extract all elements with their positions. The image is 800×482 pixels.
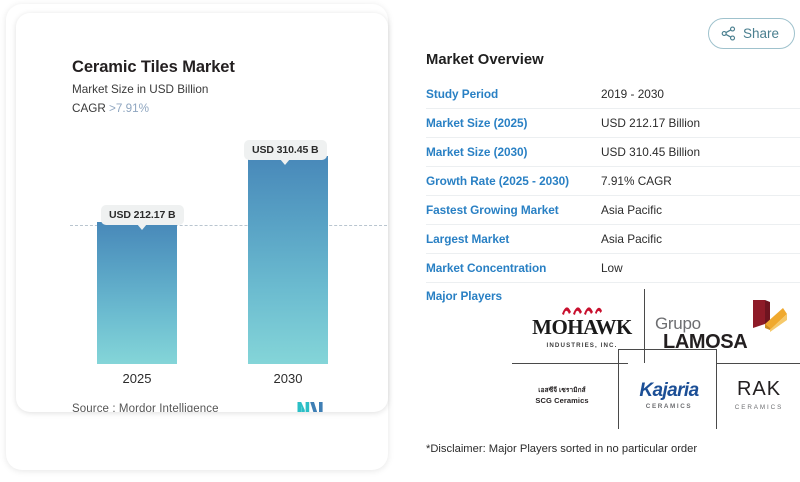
player-logo-grupo-lamosa: Grupo LAMOSA <box>648 293 796 359</box>
rak-wordmark: RAK <box>737 379 781 399</box>
mohawk-wordmark: MOHAWK <box>532 317 632 338</box>
player-logo-kajaria: Kajaria CERAMICS <box>622 371 716 419</box>
scg-thai-text: เอสซีจี เซรามิกส์ <box>538 385 585 395</box>
grupo-lamosa-mark-icon <box>739 298 789 334</box>
market-overview-title: Market Overview <box>426 52 544 68</box>
grid-divider-horizontal-left <box>512 363 628 364</box>
scg-wordmark: SCG Ceramics <box>535 396 588 405</box>
share-nodes-icon <box>721 26 736 41</box>
mohawk-tagline: INDUSTRIES, INC. <box>547 342 618 349</box>
lamosa-wordmark: LAMOSA <box>663 331 747 354</box>
row-value: USD 310.45 Billion <box>601 145 700 159</box>
share-button[interactable]: Share <box>708 18 795 49</box>
table-row: Market Concentration Low <box>426 254 800 283</box>
x-axis-label-2025: 2025 <box>97 371 177 386</box>
chart-card: Ceramic Tiles Market Market Size in USD … <box>16 13 388 412</box>
row-key: Market Size (2030) <box>426 145 601 159</box>
bar-value-label-2030: USD 310.45 B <box>244 140 327 160</box>
table-row: Market Size (2030) USD 310.45 Billion <box>426 138 800 167</box>
kajaria-tagline: CERAMICS <box>646 403 692 410</box>
player-logo-scg-ceramics: เอสซีจี เซรามิกส์ SCG Ceramics <box>514 373 610 417</box>
row-value: 7.91% CAGR <box>601 174 672 188</box>
bar-2030[interactable] <box>248 156 328 364</box>
row-value: Asia Pacific <box>601 203 662 217</box>
rak-tagline: CERAMICS <box>735 404 783 411</box>
right-panel: Share Market Overview Study Period 2019 … <box>408 0 800 482</box>
table-row: Largest Market Asia Pacific <box>426 225 800 254</box>
mordor-intelligence-logo-icon <box>297 401 323 412</box>
market-overview-table: Study Period 2019 - 2030 Market Size (20… <box>426 80 800 309</box>
player-logo-mohawk: MOHAWK INDUSTRIES, INC. <box>518 293 646 359</box>
player-logo-rak-ceramics: RAK CERAMICS <box>720 371 798 419</box>
row-value: USD 212.17 Billion <box>601 116 700 130</box>
bars-container <box>16 13 388 412</box>
row-key: Study Period <box>426 87 601 101</box>
kajaria-wordmark: Kajaria <box>639 381 698 400</box>
bar-value-label-2025: USD 212.17 B <box>101 205 184 225</box>
share-button-label: Share <box>743 26 779 41</box>
row-key: Largest Market <box>426 232 601 246</box>
row-value: 2019 - 2030 <box>601 87 664 101</box>
table-row: Fastest Growing Market Asia Pacific <box>426 196 800 225</box>
table-row: Market Size (2025) USD 212.17 Billion <box>426 109 800 138</box>
x-axis-label-2030: 2030 <box>248 371 328 386</box>
row-key: Market Size (2025) <box>426 116 601 130</box>
grid-divider-vertical-middle-left <box>618 349 619 429</box>
market-report-page: Ceramic Tiles Market Market Size in USD … <box>0 0 800 482</box>
source-text: Source : Mordor Intelligence <box>72 403 219 412</box>
major-players-logo-grid: MOHAWK INDUSTRIES, INC. Grupo LAMOSA <box>512 289 800 429</box>
table-row: Growth Rate (2025 - 2030) 7.91% CAGR <box>426 167 800 196</box>
bar-chart-plot: USD 212.17 B USD 310.45 B 2025 2030 <box>16 13 388 412</box>
grid-divider-vertical-middle-right <box>716 349 717 429</box>
row-value: Asia Pacific <box>601 232 662 246</box>
bar-2025[interactable] <box>97 222 177 364</box>
row-key: Fastest Growing Market <box>426 203 601 217</box>
row-key: Market Concentration <box>426 261 601 275</box>
table-row: Study Period 2019 - 2030 <box>426 80 800 109</box>
row-value: Low <box>601 261 623 275</box>
row-key: Growth Rate (2025 - 2030) <box>426 174 601 188</box>
disclaimer-text: *Disclaimer: Major Players sorted in no … <box>426 443 697 455</box>
grid-divider-horizontal-right <box>716 363 800 364</box>
